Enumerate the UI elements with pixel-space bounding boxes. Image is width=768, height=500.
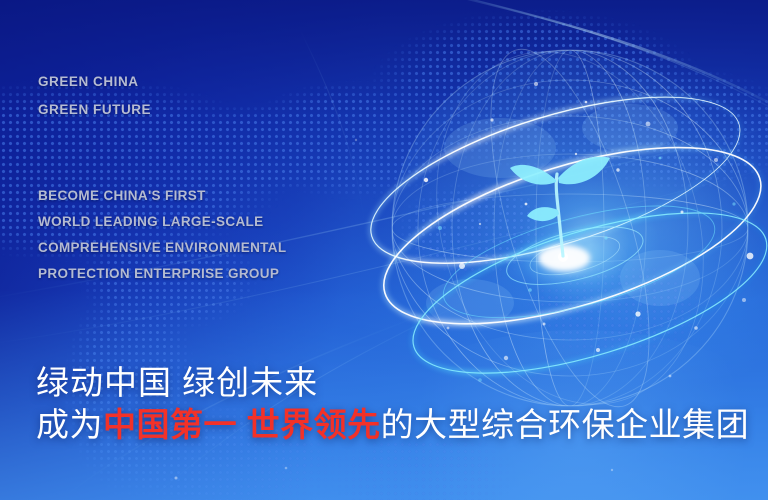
headline-text: 绿动中国 绿创未来 成为中国第一 世界领先的大型综合环保企业集团: [36, 362, 749, 447]
tagline-text: BECOME CHINA'S FIRST WORLD LEADING LARGE…: [38, 183, 286, 287]
tagline-line-2: WORLD LEADING LARGE-SCALE: [38, 209, 286, 235]
eyebrow-line-2: GREEN FUTURE: [38, 96, 151, 124]
globe-sphere: [392, 50, 748, 406]
headline-accent: 中国第一 世界领先: [103, 406, 381, 443]
tagline-line-4: PROTECTION ENTERPRISE GROUP: [38, 261, 286, 287]
headline-suffix: 的大型综合环保企业集团: [381, 406, 750, 443]
tagline-line-3: COMPREHENSIVE ENVIRONMENTAL: [38, 235, 286, 261]
headline-line-2: 成为中国第一 世界领先的大型综合环保企业集团: [36, 403, 749, 447]
eyebrow-text: GREEN CHINA GREEN FUTURE: [38, 68, 151, 124]
eyebrow-line-1: GREEN CHINA: [38, 68, 151, 96]
headline-prefix: 成为: [36, 406, 103, 443]
globe-core: [504, 230, 628, 290]
tagline-line-1: BECOME CHINA'S FIRST: [38, 183, 286, 209]
banner-hero: GREEN CHINA GREEN FUTURE BECOME CHINA'S …: [0, 0, 768, 500]
headline-line-1: 绿动中国 绿创未来: [36, 362, 749, 403]
